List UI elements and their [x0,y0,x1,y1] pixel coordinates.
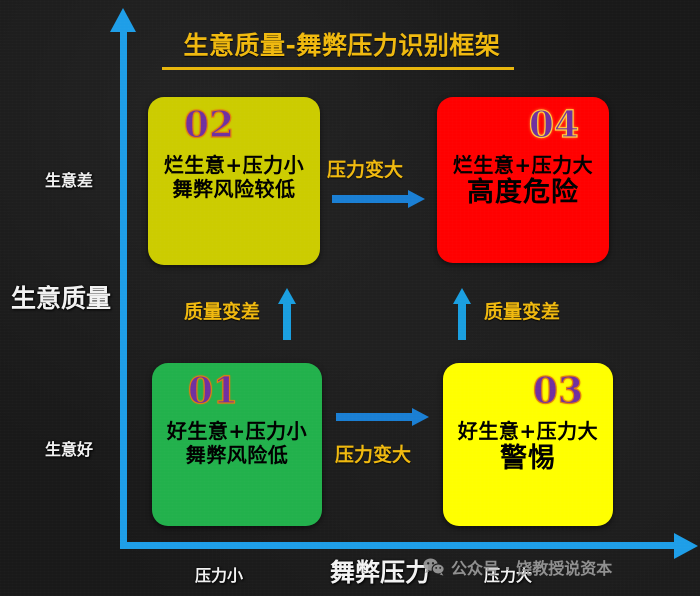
flow-label-top-horizontal: 压力变大 [327,155,403,182]
quadrant-line1-03: 好生意+压力大 [451,419,605,443]
quadrant-text-01: 好生意+压力小 舞弊风险低 [160,419,314,468]
framework-diagram: 生意质量-舞弊压力识别框架 生意差 生意质量 生意好 压力小 舞弊压力 压力大 … [0,0,700,596]
quadrant-box-04[interactable]: 04 烂生意+压力大 高度危险 [437,97,609,263]
y-axis-tick-bottom: 生意好 [24,436,114,460]
arrow-up-icon-left [278,288,296,340]
flow-label-bottom-horizontal: 压力变大 [335,440,411,467]
quadrant-line1-04: 烂生意+压力大 [445,153,601,177]
wechat-icon [423,558,445,576]
quadrant-line2-03: 警惕 [451,443,605,474]
quadrant-box-03[interactable]: 03 好生意+压力大 警惕 [443,363,613,526]
y-axis-title: 生意质量 [2,279,120,315]
quadrant-box-02[interactable]: 02 烂生意+压力小 舞弊风险较低 [148,97,320,265]
quadrant-line2-01: 舞弊风险低 [160,443,314,467]
quadrant-line2-04: 高度危险 [445,177,601,208]
arrow-up-icon-right [453,288,471,340]
quadrant-text-04: 烂生意+压力大 高度危险 [445,153,601,209]
y-axis-line [120,28,127,549]
title-underline [162,67,514,70]
flow-label-left-vertical: 质量变差 [184,297,260,324]
arrow-right-icon [674,533,698,559]
flow-label-right-vertical: 质量变差 [484,297,560,324]
y-axis-tick-top: 生意差 [24,167,114,191]
arrow-right-icon-bottom [336,408,429,426]
arrow-up-icon [110,8,136,32]
arrow-right-icon-top [332,190,425,208]
quadrant-line1-02: 烂生意+压力小 [156,153,312,177]
page-title-text: 生意质量-舞弊压力识别框架 [162,26,522,62]
quadrant-number-01: 01 [160,373,314,409]
x-axis-title: 舞弊压力 [330,553,430,589]
page-title: 生意质量-舞弊压力识别框架 [162,26,522,70]
quadrant-line2-02: 舞弊风险较低 [156,177,312,201]
x-axis-line [120,542,688,549]
quadrant-text-02: 烂生意+压力小 舞弊风险较低 [156,153,312,202]
watermark: 公众号 · 饶教授说资本 [423,555,612,579]
quadrant-line1-01: 好生意+压力小 [160,419,314,443]
quadrant-box-01[interactable]: 01 好生意+压力小 舞弊风险低 [152,363,322,526]
watermark-text: 公众号 · 饶教授说资本 [451,555,612,579]
quadrant-text-03: 好生意+压力大 警惕 [451,419,605,475]
x-axis-tick-left: 压力小 [195,562,243,586]
quadrant-number-03: 03 [451,373,605,409]
quadrant-number-04: 04 [445,107,601,143]
quadrant-number-02: 02 [156,107,312,143]
